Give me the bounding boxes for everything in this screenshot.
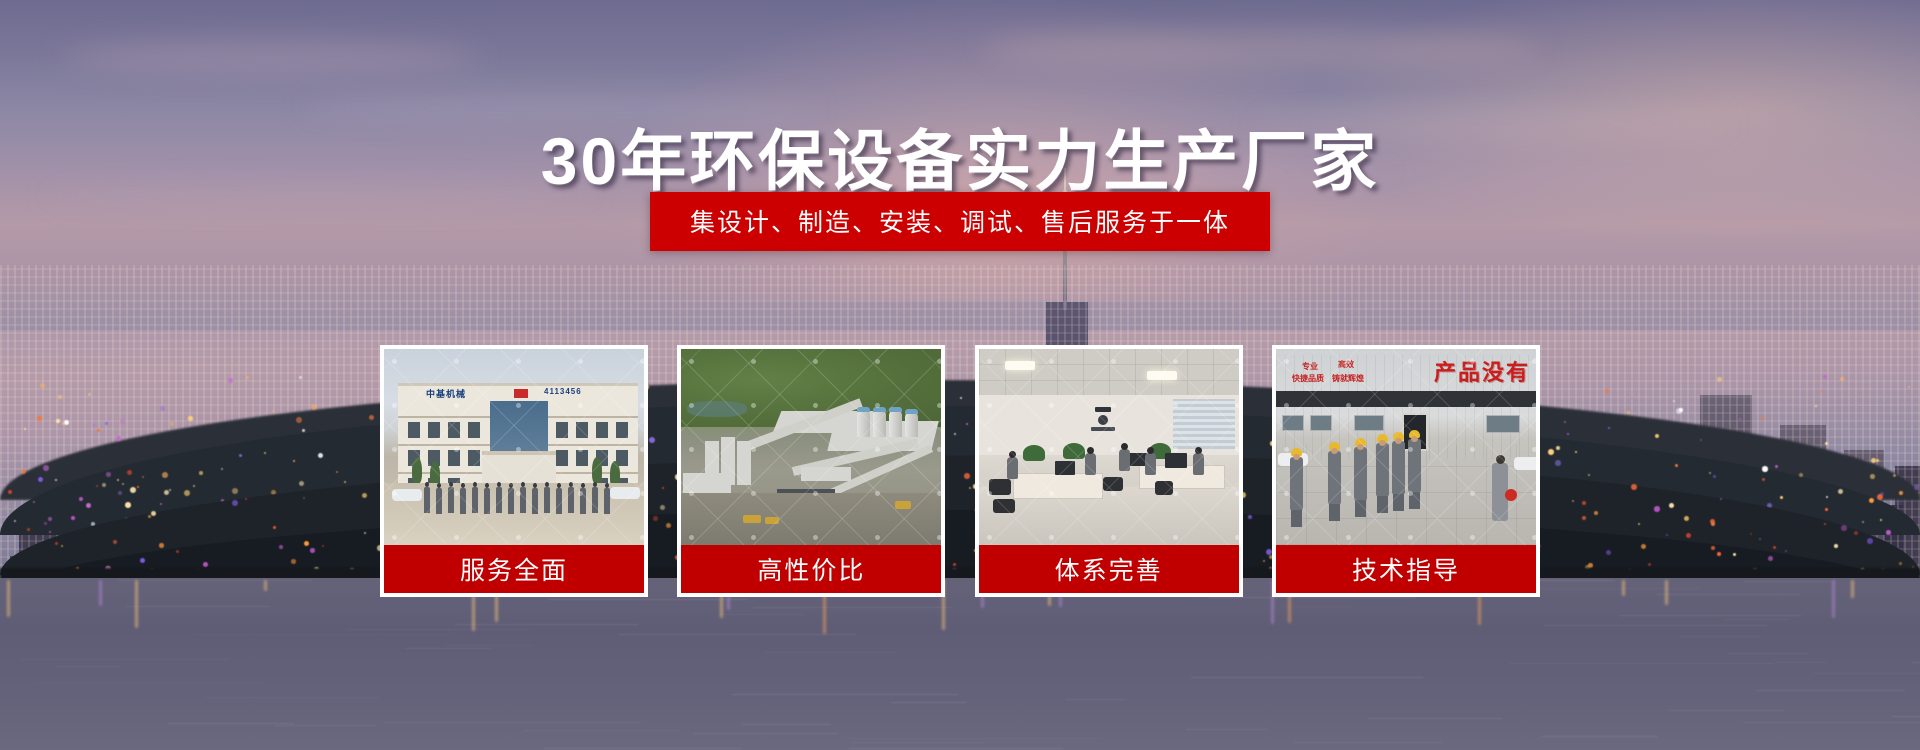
factory-wall-slogan-small: 高效 (1338, 361, 1354, 370)
factory-wall-slogan-small: 铸就辉煌 (1332, 375, 1364, 384)
hero-banner: 30年环保设备实力生产厂家 集设计、制造、安装、调试、售后服务于一体 (0, 0, 1920, 750)
page-title: 30年环保设备实力生产厂家 (0, 108, 1920, 204)
feature-card-list: 中基机械 4113456 (380, 345, 1540, 597)
factory-wall-slogan: 产品没有 (1434, 355, 1530, 387)
aerial-factory-plant-photo (677, 345, 945, 545)
feature-card-caption: 高性价比 (677, 545, 945, 597)
workshop-workers-training-photo: 产品没有 专业 高效 快捷品质 铸就辉煌 (1272, 345, 1540, 545)
feature-card[interactable]: 中基机械 4113456 (380, 345, 648, 597)
feature-card-caption: 服务全面 (380, 545, 648, 597)
subtitle-container: 集设计、制造、安装、调试、售后服务于一体 (0, 192, 1920, 251)
feature-card[interactable]: 体系完善 (975, 345, 1243, 597)
feature-card-caption: 技术指导 (1272, 545, 1540, 597)
feature-card-caption: 体系完善 (975, 545, 1243, 597)
company-building-staff-photo: 中基机械 4113456 (380, 345, 648, 545)
factory-wall-slogan-small: 专业 (1302, 363, 1318, 372)
feature-card[interactable]: 产品没有 专业 高效 快捷品质 铸就辉煌 (1272, 345, 1540, 597)
subtitle-badge: 集设计、制造、安装、调试、售后服务于一体 (650, 192, 1270, 251)
wall-decal (1087, 407, 1119, 435)
feature-card[interactable]: 高性价比 (677, 345, 945, 597)
factory-wall-slogan-small: 快捷品质 (1292, 375, 1324, 384)
office-interior-staff-photo (975, 345, 1243, 545)
